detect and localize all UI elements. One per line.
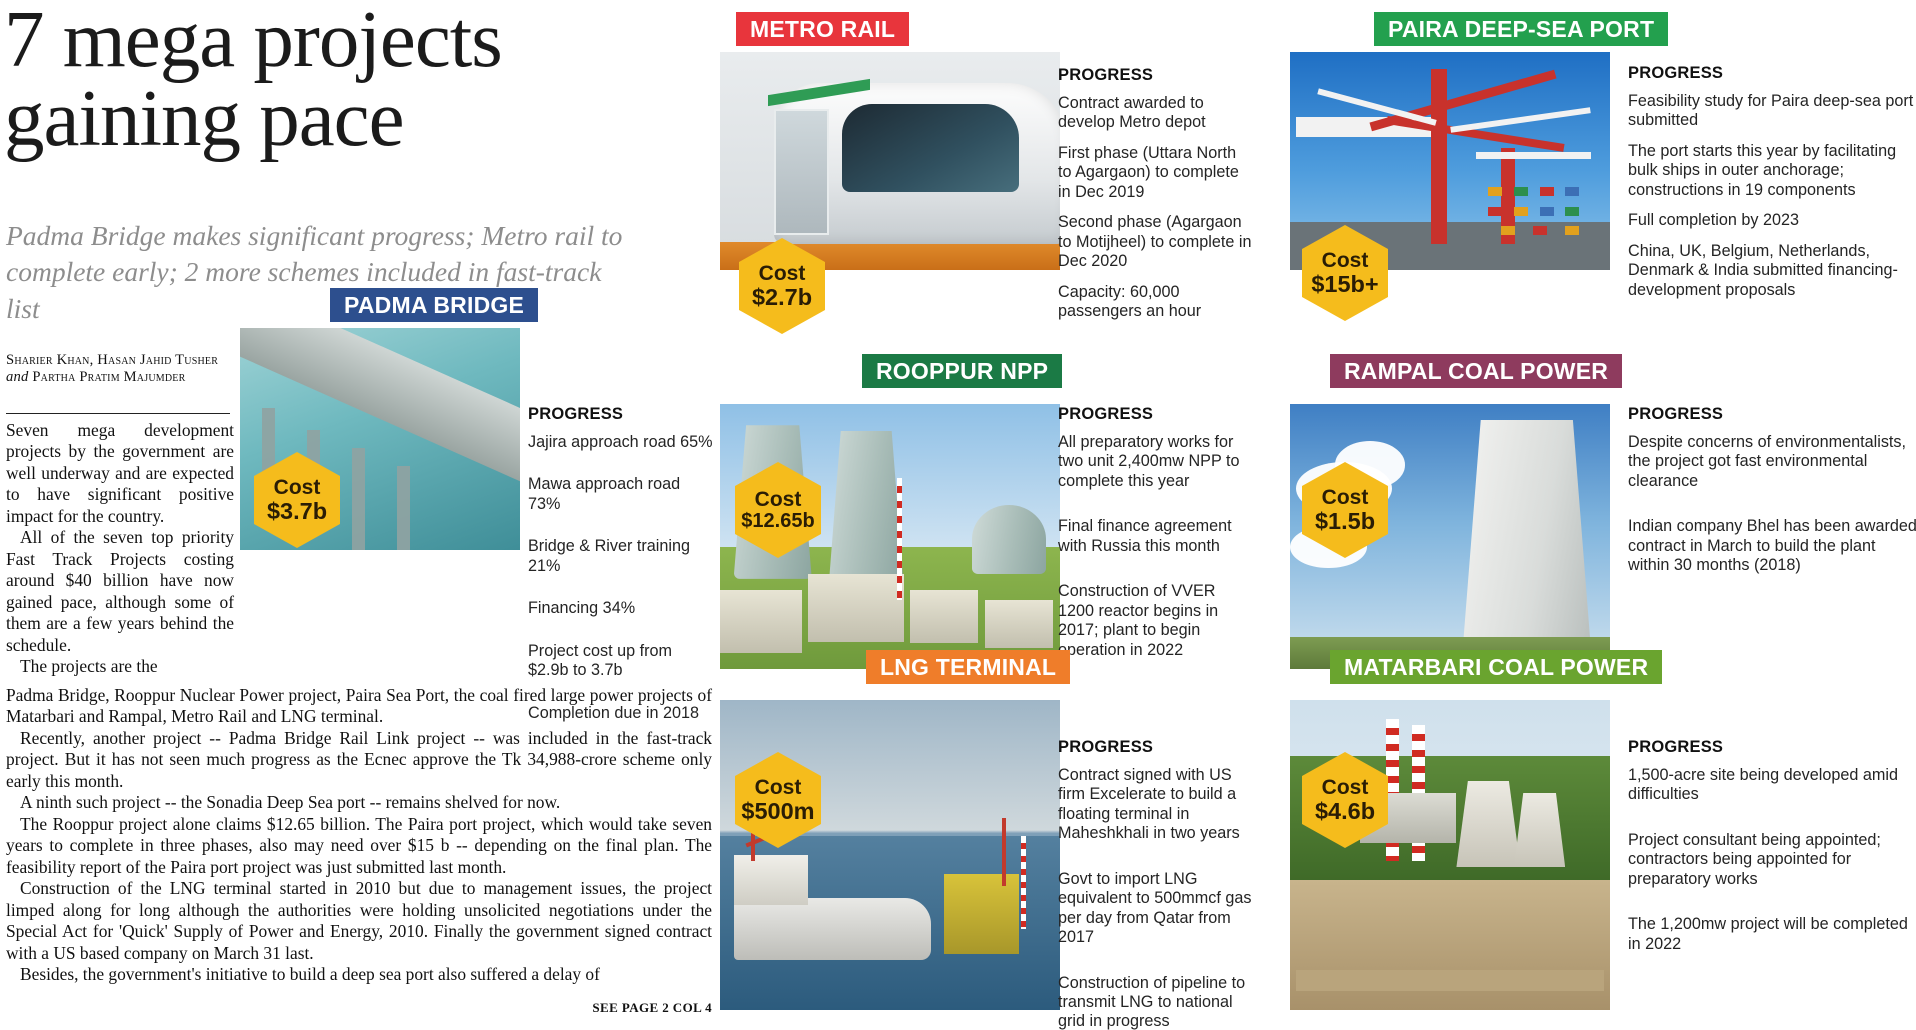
progress-item: All preparatory works for two unit 2,400… bbox=[1058, 433, 1254, 491]
cost-label: Cost bbox=[755, 489, 802, 511]
progress-item: Govt to import LNG equivalent to 500mmcf… bbox=[1058, 870, 1254, 948]
progress-item: Second phase (Agargaon to Motijheel) to … bbox=[1058, 213, 1254, 271]
progress-heading: PROGRESS bbox=[1058, 738, 1254, 757]
progress-item: Completion due in 2018 bbox=[528, 704, 714, 723]
progress-heading: PROGRESS bbox=[528, 405, 714, 424]
cost-label: Cost bbox=[1322, 487, 1369, 509]
progress-item: First phase (Uttara North to Agargaon) t… bbox=[1058, 144, 1254, 202]
cost-value: $15b+ bbox=[1311, 272, 1378, 296]
progress-heading: PROGRESS bbox=[1628, 405, 1916, 424]
article-paragraph: Construction of the LNG terminal started… bbox=[6, 878, 712, 964]
cost-label: Cost bbox=[759, 263, 806, 285]
project-tag-rooppur-npp: ROOPPUR NPP bbox=[862, 354, 1062, 388]
cost-value: $2.7b bbox=[752, 285, 812, 309]
project-tag-paira-port: PAIRA DEEP-SEA PORT bbox=[1374, 12, 1668, 46]
byline-part1: Sharier Khan, Hasan Jahid Tusher bbox=[6, 352, 218, 368]
cost-value: $500m bbox=[741, 799, 814, 823]
cost-value: $4.6b bbox=[1315, 799, 1375, 823]
progress-lng-terminal: PROGRESS Contract signed with US firm Ex… bbox=[1058, 738, 1254, 1030]
progress-item: Contract signed with US firm Excelerate … bbox=[1058, 766, 1254, 844]
progress-heading: PROGRESS bbox=[1628, 64, 1916, 83]
infographic-page: 7 mega projects gaining pace Padma Bridg… bbox=[0, 0, 1916, 1030]
photo-matarbari-coal bbox=[1290, 700, 1610, 1010]
progress-item: Indian company Bhel has been awarded con… bbox=[1628, 517, 1916, 575]
progress-item: Jajira approach road 65% bbox=[528, 433, 714, 452]
progress-item: China, UK, Belgium, Netherlands, Denmark… bbox=[1628, 242, 1916, 300]
project-tag-matarbari-coal: MATARBARI COAL POWER bbox=[1330, 650, 1662, 684]
progress-item: The 1,200mw project will be completed in… bbox=[1628, 915, 1916, 954]
progress-item: Despite concerns of environmentalists, t… bbox=[1628, 433, 1916, 491]
project-tag-rampal-coal: RAMPAL COAL POWER bbox=[1330, 354, 1622, 388]
progress-item: Construction of VVER 1200 reactor begins… bbox=[1058, 582, 1254, 660]
progress-rampal-coal: PROGRESS Despite concerns of environment… bbox=[1628, 405, 1916, 602]
cost-value: $3.7b bbox=[267, 499, 327, 523]
article-paragraph: The projects are the bbox=[6, 656, 234, 677]
progress-item: Project consultant being appointed; cont… bbox=[1628, 831, 1916, 889]
progress-metro-rail: PROGRESS Contract awarded to develop Met… bbox=[1058, 66, 1254, 332]
progress-item: Construction of pipeline to transmit LNG… bbox=[1058, 974, 1254, 1030]
progress-item: Capacity: 60,000 passengers an hour bbox=[1058, 283, 1254, 322]
progress-matarbari-coal: PROGRESS 1,500-acre site being developed… bbox=[1628, 738, 1916, 980]
progress-paira-port: PROGRESS Feasibility study for Paira dee… bbox=[1628, 64, 1916, 311]
progress-item: Financing 34% bbox=[528, 599, 714, 618]
article-paragraph: The Rooppur project alone claims $12.65 … bbox=[6, 814, 712, 878]
byline-divider bbox=[6, 413, 230, 414]
project-tag-padma-bridge: PADMA BRIDGE bbox=[330, 288, 538, 322]
progress-padma-bridge: PROGRESS Jajira approach road 65% Mawa a… bbox=[528, 405, 714, 749]
progress-item: Bridge & River training 21% bbox=[528, 537, 714, 576]
cost-value: $1.5b bbox=[1315, 509, 1375, 533]
project-tag-lng-terminal: LNG TERMINAL bbox=[866, 650, 1070, 684]
cost-label: Cost bbox=[1322, 777, 1369, 799]
progress-item: Final finance agreement with Russia this… bbox=[1058, 517, 1254, 556]
progress-item: 1,500-acre site being developed amid dif… bbox=[1628, 766, 1916, 805]
progress-item: Full completion by 2023 bbox=[1628, 211, 1916, 230]
article-paragraph: Seven mega development projects by the g… bbox=[6, 420, 234, 527]
progress-item: Project cost up from $2.9b to 3.7b bbox=[528, 642, 714, 681]
article-paragraph: Besides, the government's initiative to … bbox=[6, 964, 712, 985]
progress-heading: PROGRESS bbox=[1058, 405, 1254, 424]
cost-label: Cost bbox=[1322, 250, 1369, 272]
progress-item: Contract awarded to develop Metro depot bbox=[1058, 94, 1254, 133]
photo-metro-rail bbox=[720, 52, 1060, 270]
progress-item: The port starts this year by facilitatin… bbox=[1628, 142, 1916, 200]
photo-lng-terminal bbox=[720, 700, 1060, 1010]
article-paragraph: All of the seven top priority Fast Track… bbox=[6, 527, 234, 656]
cost-label: Cost bbox=[274, 477, 321, 499]
continuation-note: SEE PAGE 2 COL 4 bbox=[6, 1000, 712, 1016]
byline: Sharier Khan, Hasan Jahid Tusher and Par… bbox=[6, 352, 236, 386]
page-title: 7 mega projects gaining pace bbox=[4, 0, 724, 159]
progress-heading: PROGRESS bbox=[1628, 738, 1916, 757]
cost-value: $12.65b bbox=[741, 511, 814, 532]
project-tag-metro-rail: METRO RAIL bbox=[736, 12, 909, 46]
article-paragraph: A ninth such project -- the Sonadia Deep… bbox=[6, 792, 712, 813]
progress-heading: PROGRESS bbox=[1058, 66, 1254, 85]
progress-rooppur-npp: PROGRESS All preparatory works for two u… bbox=[1058, 405, 1254, 686]
byline-part2: Partha Pratim Majumder bbox=[29, 369, 186, 385]
byline-and: and bbox=[6, 369, 29, 385]
cost-label: Cost bbox=[755, 777, 802, 799]
article-narrow-column: Seven mega development projects by the g… bbox=[6, 420, 234, 678]
progress-item: Mawa approach road 73% bbox=[528, 475, 714, 514]
progress-item: Feasibility study for Paira deep-sea por… bbox=[1628, 92, 1916, 131]
